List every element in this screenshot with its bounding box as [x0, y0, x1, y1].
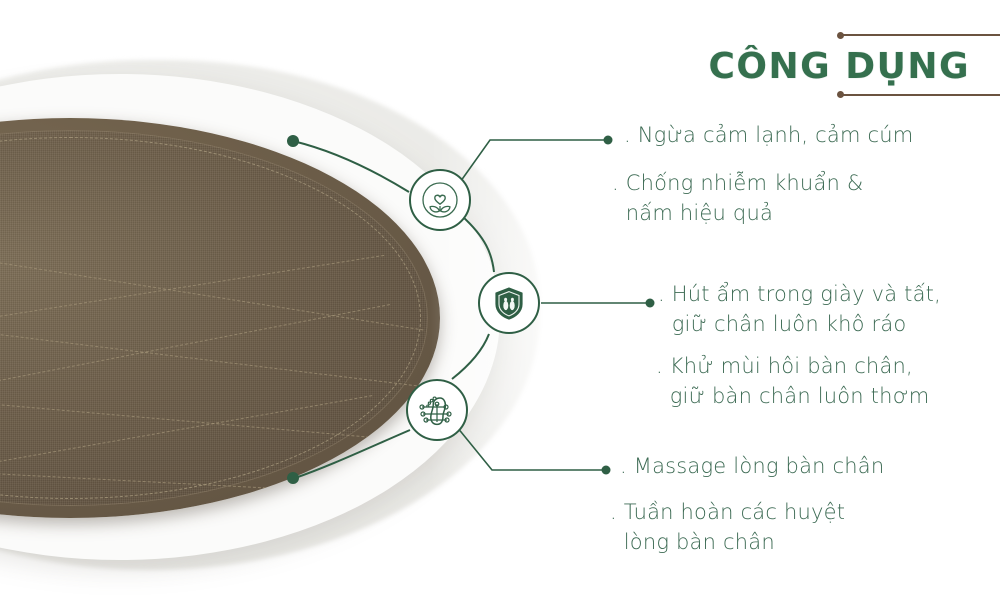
page-title: CÔNG DỤNG [708, 46, 970, 87]
bullet-dot-3 [602, 466, 611, 475]
heart-leaves-icon[interactable] [409, 169, 471, 231]
bracket-dot-bottom [837, 91, 844, 98]
bullet-dot-2 [646, 299, 655, 308]
benefit-text-4: . Khử mùi hôi bàn chân, giữ bàn chân luô… [656, 351, 929, 411]
foot-acupressure-icon[interactable] [406, 379, 468, 441]
benefit-text-3: . Hút ẩm trong giày và tất, giữ chân luô… [658, 279, 941, 339]
shield-footprint-icon[interactable] [478, 272, 540, 334]
bracket-dot-top [837, 32, 844, 39]
benefit-text-2: . Chống nhiễm khuẩn & nấm hiệu quả [612, 168, 863, 228]
benefit-text-5: . Massage lòng bàn chân [620, 451, 884, 481]
heart-leaves-glyph [420, 180, 460, 220]
title-block: CÔNG DỤNG [670, 18, 1000, 96]
benefit-text-6: . Tuần hoàn các huyệt lòng bàn chân [610, 497, 845, 557]
shield-footprint-glyph [489, 283, 529, 323]
benefit-text-1: . Ngừa cảm lạnh, cảm cúm [624, 120, 913, 150]
infographic-canvas: CÔNG DỤNG [0, 0, 1000, 606]
foot-acupressure-glyph [416, 389, 458, 431]
bullet-dot-1 [604, 136, 613, 145]
